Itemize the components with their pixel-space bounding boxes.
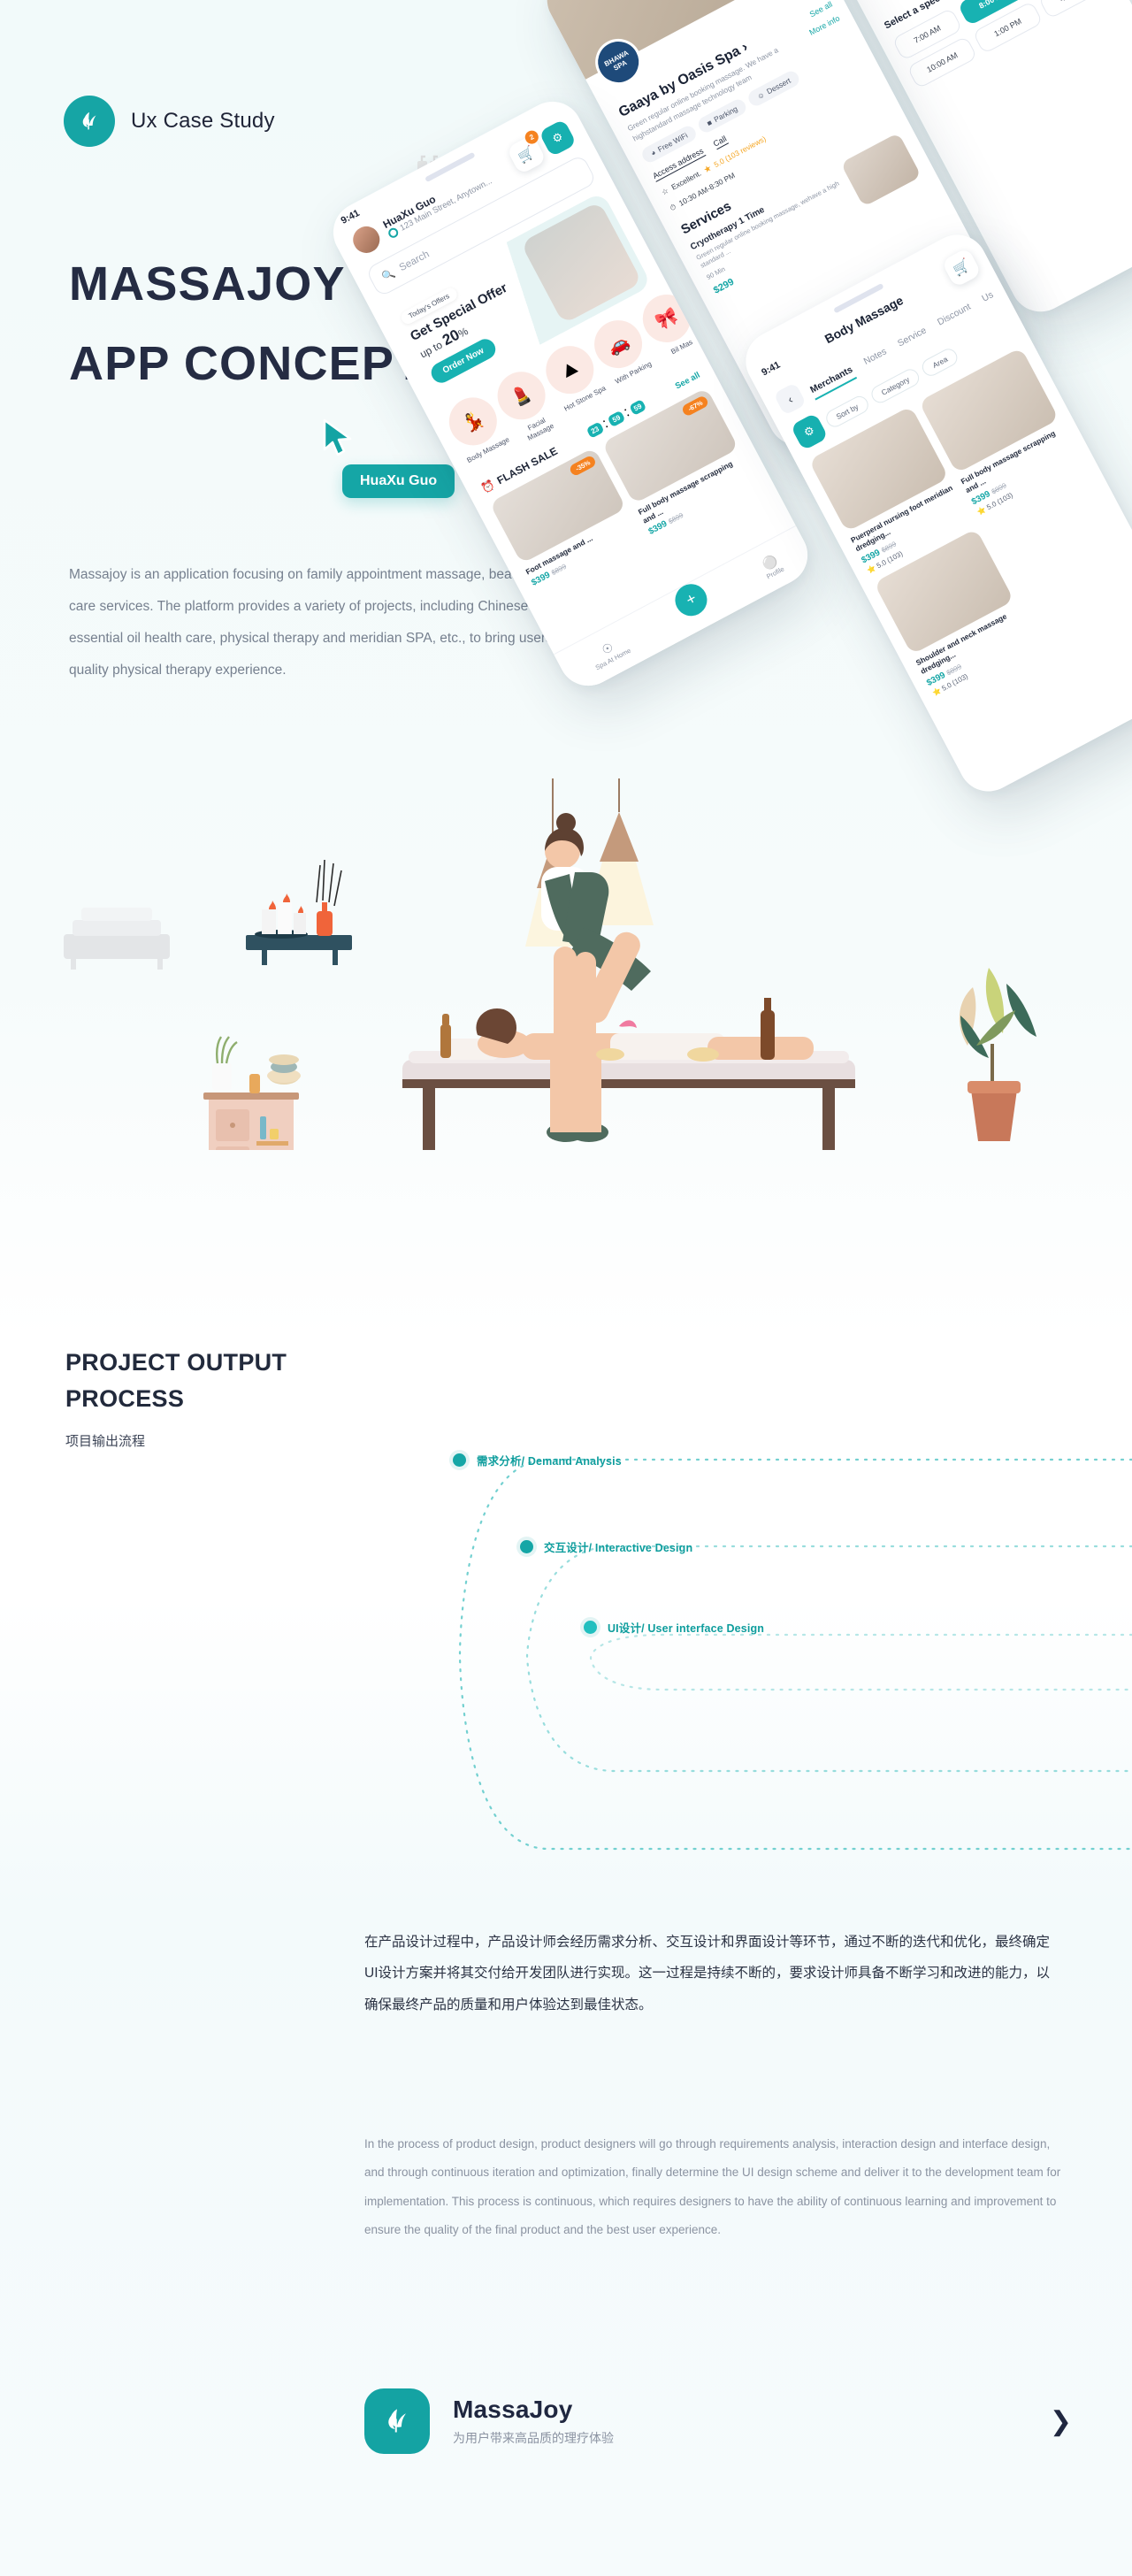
app-name: MassaJoy (453, 2396, 614, 2424)
process-step-1[interactable]: 需求分析/ Demand Analysis (453, 1452, 622, 1468)
status-time: 9:41 (340, 208, 362, 226)
badge-icon: ☆ (660, 186, 670, 197)
parking-icon: ■ (705, 118, 713, 127)
alarm-clock-icon: ⏰ (479, 478, 497, 494)
massage-table-icon (402, 1051, 855, 1150)
clock-icon: ⏱ (668, 202, 677, 213)
tab-spa-at-home[interactable]: ☉Spa At Home (586, 632, 631, 671)
filter-sort-by[interactable]: Sort by (823, 393, 871, 430)
process-step-3[interactable]: UI设计/ User interface Design (584, 1619, 764, 1636)
cart-count-badge: 2 (523, 128, 540, 146)
filter-area[interactable]: Area (920, 346, 960, 379)
cart-icon[interactable]: 🛒2 (506, 134, 547, 175)
tab-us[interactable]: Us (980, 289, 998, 309)
wifi-icon: ◕ (649, 147, 657, 157)
massage-therapy-illustration (0, 778, 1132, 1150)
case-study-page: Ux Case Study MASSAJOY APP CONCEPT HuaXu… (0, 0, 1132, 2576)
hero-title-line1: MASSAJOY (69, 257, 346, 310)
status-time: 9:41 (760, 360, 782, 379)
step-dot-icon (453, 1453, 466, 1467)
avatar[interactable] (346, 219, 386, 260)
side-cabinet-icon (203, 1037, 301, 1150)
potted-plant-icon (960, 968, 1036, 1141)
tab-discount[interactable]: Discount (936, 302, 975, 333)
dessert-icon: ☺ (755, 89, 766, 101)
filter-icon[interactable]: ⚙ (539, 119, 577, 157)
search-icon: 🔍 (380, 266, 397, 283)
filter-category[interactable]: Category (868, 366, 922, 406)
hero-title-line2: APP CONCEPT (69, 336, 424, 393)
leaf-icon (364, 2388, 430, 2454)
phone-mockups: ‹ BOOK BY TREATMENT Available Sun4 Mon5 … (460, 0, 1132, 796)
chevron-left-icon[interactable]: ‹ (773, 382, 807, 416)
app-tagline: 为用户带来高品质的理疗体验 (453, 2429, 614, 2447)
towels-icon (64, 908, 170, 970)
brand-name: Ux Case Study (131, 109, 275, 134)
tab-notes[interactable]: Notes (862, 346, 891, 372)
discount-badge: -35% (569, 455, 597, 477)
section-heading-line2: PROCESS (65, 1381, 184, 1417)
footer: MassaJoy 为用户带来高品质的理疗体验 ❯ (364, 2388, 1072, 2454)
section-heading: PROJECT OUTPUT PROCESS 项目输出流程 (65, 1345, 287, 1450)
step-dot-icon (520, 1540, 533, 1553)
plus-icon[interactable]: + (669, 578, 713, 621)
tab-profile[interactable]: ⚪Profile (758, 551, 785, 580)
see-all-link[interactable]: See all (674, 370, 702, 391)
body-copy-english: In the process of product design, produc… (364, 2130, 1072, 2245)
candle-shelf-icon (246, 860, 352, 965)
body-copy-chinese: 在产品设计过程中，产品设计师会经历需求分析、交互设计和界面设计等环节，通过不断的… (364, 1927, 1063, 2020)
section-heading-line1: PROJECT OUTPUT (65, 1345, 287, 1381)
step-dot-icon (584, 1621, 597, 1634)
star-icon: ★ (702, 163, 713, 174)
cart-icon[interactable]: 🛒 (941, 248, 982, 288)
filter-icon[interactable]: ⚙ (791, 412, 829, 450)
client-figure (442, 1008, 814, 1060)
process-diagram: 需求分析/ Demand Analysis 交互设计/ Interactive … (442, 1424, 1132, 1902)
search-placeholder: Search (398, 249, 432, 273)
tab-service[interactable]: Service (896, 325, 930, 353)
chevron-right-icon[interactable]: ❯ (1050, 2406, 1072, 2437)
process-step-2[interactable]: 交互设计/ Interactive Design (520, 1538, 692, 1555)
call-link[interactable]: Call (712, 134, 729, 149)
time-slot[interactable]: 4:00 PM (1038, 0, 1109, 19)
section-subtitle: 项目输出流程 (65, 1431, 287, 1450)
time-slot-grid: 7:00 AM 8:00 AM 11:00 AM 10:00 AM 1:00 P… (891, 0, 1108, 89)
discount-badge: -67% (681, 395, 709, 417)
cursor-pointer-icon (321, 418, 356, 463)
leaf-icon (64, 96, 115, 147)
day-option[interactable]: Sun4 (858, 0, 899, 10)
chevron-right-icon[interactable]: › (739, 40, 751, 56)
author-badge: HuaXu Guo (342, 464, 455, 498)
brand-header: Ux Case Study (64, 96, 275, 147)
